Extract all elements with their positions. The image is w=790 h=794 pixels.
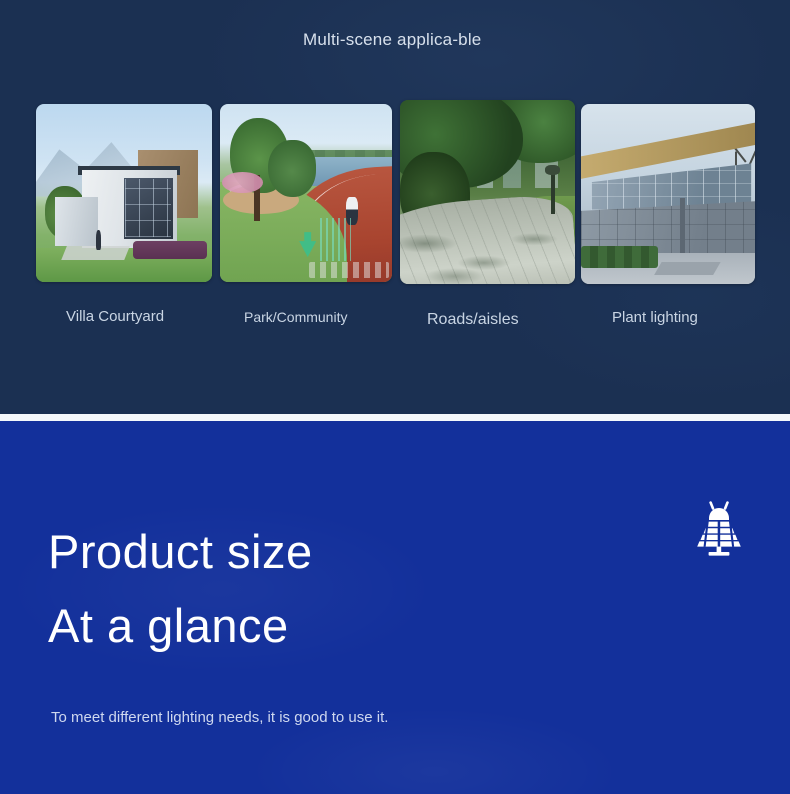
villa-scene-artwork <box>36 104 212 282</box>
roads-aisles-image <box>400 100 575 284</box>
track-text-shape <box>309 262 388 278</box>
park-community-image <box>220 104 392 282</box>
product-size-heading: Product size At a glance <box>48 515 313 663</box>
multi-scene-section: Multi-scene applica-ble <box>0 0 790 414</box>
left-wing-shape <box>55 197 97 247</box>
villa-courtyard-image <box>36 104 212 282</box>
heading-line-2: At a glance <box>48 589 313 663</box>
light-beam-shape <box>320 218 351 261</box>
promo-page: Multi-scene applica-ble <box>0 0 790 794</box>
scene-caption-plant-lighting: Plant lighting <box>612 309 698 326</box>
scene-card-villa-courtyard[interactable] <box>36 104 212 282</box>
tree-shape <box>268 140 316 197</box>
scene-card-grid: Villa Courtyard Park/Community Roads/ais… <box>0 0 790 414</box>
step-shape <box>654 262 720 275</box>
scene-caption-villa-courtyard: Villa Courtyard <box>66 308 164 325</box>
product-size-section: Product size At a glance To meet differe… <box>0 421 790 794</box>
multi-scene-title: Multi-scene applica-ble <box>303 28 489 52</box>
hedge-shape <box>133 241 207 259</box>
scene-caption-roads-aisles: Roads/aisles <box>427 311 519 329</box>
park-scene-artwork <box>220 104 392 282</box>
blossom-shape <box>222 172 263 193</box>
plant-scene-artwork <box>581 104 755 284</box>
scene-card-plant-lighting[interactable] <box>581 104 755 284</box>
product-size-subtitle: To meet different lighting needs, it is … <box>51 709 388 726</box>
plant-lighting-image <box>581 104 755 284</box>
scene-card-roads-aisles[interactable] <box>400 100 575 284</box>
section-divider <box>0 414 790 421</box>
scene-caption-park-community: Park/Community <box>244 309 347 325</box>
solar-panel-lamp-icon <box>689 499 749 557</box>
heading-line-1: Product size <box>48 515 313 589</box>
dappled-shadow-overlay <box>400 214 575 284</box>
pillar-shape <box>680 198 685 259</box>
garden-lamp-shape <box>551 174 555 214</box>
scene-card-park-community[interactable] <box>220 104 392 282</box>
road-scene-artwork <box>400 100 575 284</box>
person-shape <box>96 230 101 250</box>
hedge-shape <box>581 246 658 268</box>
